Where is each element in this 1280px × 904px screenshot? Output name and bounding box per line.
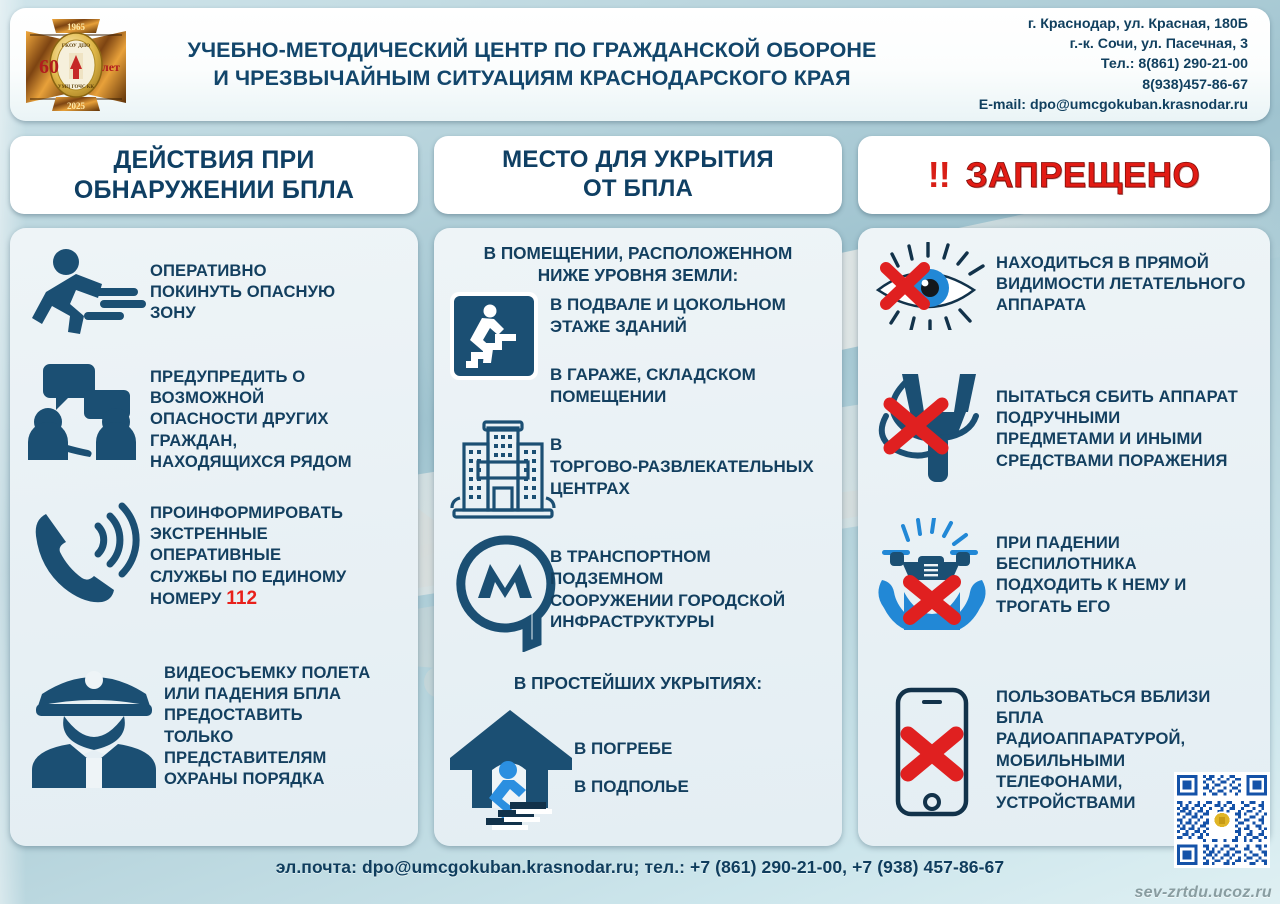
column-2-panel: В ПОМЕЩЕНИИ, РАСПОЛОЖЕННОМ НИЖЕ УРОВНЯ З…	[434, 228, 842, 846]
col2-item-2-line2: ПОМЕЩЕНИИ	[550, 386, 836, 408]
col2-title-line1: МЕСТО ДЛЯ УКРЫТИЯ	[502, 146, 774, 175]
col1-item-1-line2: ПОКИНУТЬ ОПАСНУЮ	[150, 281, 335, 302]
svg-text:1965: 1965	[67, 22, 86, 32]
running-person-icon	[24, 244, 150, 340]
col3-item-3-line3: ПОДХОДИТЬ К НЕМУ И	[996, 574, 1186, 595]
column-3-title-card: !! ЗАПРЕЩЕНО	[858, 136, 1270, 214]
col2-item-3-line2: ТОРГОВО-РАЗВЛЕКАТЕЛЬНЫХ	[550, 456, 840, 478]
metro-m-icon	[450, 532, 560, 652]
col2-item-2-text: В ГАРАЖЕ, СКЛАДСКОМ ПОМЕЩЕНИИ	[550, 364, 836, 408]
col2-item-1-line2: ЭТАЖЕ ЗДАНИЙ	[550, 316, 836, 338]
header-title: УЧЕБНО-МЕТОДИЧЕСКИЙ ЦЕНТР ПО ГРАЖДАНСКОЙ…	[130, 37, 940, 92]
col1-item-2-line2: ВОЗМОЖНОЙ	[150, 387, 352, 408]
stairs-down-sign-icon	[448, 290, 540, 382]
column-1-title-card: ДЕЙСТВИЯ ПРИ ОБНАРУЖЕНИИ БПЛА	[10, 136, 418, 214]
col3-item-4-line4: МОБИЛЬНЫМИ	[996, 750, 1210, 771]
col1-item-3: ПРОИНФОРМИРОВАТЬ ЭКСТРЕННЫЕ ОПЕРАТИВНЫЕ …	[24, 496, 406, 611]
col2-item-1-text: В ПОДВАЛЕ И ЦОКОЛЬНОМ ЭТАЖЕ ЗДАНИЙ	[550, 294, 836, 338]
col1-item-3-line1: ПРОИНФОРМИРОВАТЬ	[150, 502, 346, 523]
col1-item-3-line4: СЛУЖБЫ ПО ЕДИНОМУ	[150, 566, 346, 587]
col3-item-3-text: ПРИ ПАДЕНИИ БЕСПИЛОТНИКА ПОДХОДИТЬ К НЕМ…	[996, 518, 1186, 617]
source-watermark: sev-zrtdu.ucoz.ru	[1134, 884, 1272, 902]
telephone-ringing-icon	[24, 496, 150, 606]
header-contacts: г. Краснодар, ул. Красная, 180Б г.-к. Со…	[940, 14, 1270, 115]
slingshot-crossed-out-icon	[868, 364, 996, 484]
svg-text:2025: 2025	[67, 101, 86, 111]
col3-item-2: ПЫТАТЬСЯ СБИТЬ АППАРАТ ПОДРУЧНЫМИ ПРЕДМЕ…	[868, 364, 1268, 484]
col3-item-1-text: НАХОДИТЬСЯ В ПРЯМОЙ ВИДИМОСТИ ЛЕТАТЕЛЬНО…	[996, 242, 1246, 316]
col2-item-4-line2: ПОДЗЕМНОМ	[550, 568, 842, 590]
col3-item-3-line4: ТРОГАТЬ ЕГО	[996, 596, 1186, 617]
two-people-talking-icon	[24, 356, 150, 462]
col1-item-1-line3: ЗОНУ	[150, 302, 335, 323]
contact-address-krasnodar: г. Краснодар, ул. Красная, 180Б	[940, 14, 1248, 34]
col2-heading: В ПОМЕЩЕНИИ, РАСПОЛОЖЕННОМ НИЖЕ УРОВНЯ З…	[434, 242, 842, 287]
col1-item-1: ОПЕРАТИВНО ПОКИНУТЬ ОПАСНУЮ ЗОНУ	[24, 244, 406, 340]
col1-item-1-text: ОПЕРАТИВНО ПОКИНУТЬ ОПАСНУЮ ЗОНУ	[150, 244, 335, 324]
col1-item-2-line3: ОПАСНОСТИ ДРУГИХ	[150, 408, 352, 429]
col3-item-2-line2: ПОДРУЧНЫМИ	[996, 407, 1238, 428]
col3-item-1: НАХОДИТЬСЯ В ПРЯМОЙ ВИДИМОСТИ ЛЕТАТЕЛЬНО…	[868, 242, 1264, 330]
col1-item-4-line3: ПРЕДОСТАВИТЬ	[164, 704, 370, 725]
contact-email: E-mail: dpo@umcgokuban.krasnodar.ru	[940, 95, 1248, 115]
col1-item-2-line4: ГРАЖДАН,	[150, 430, 352, 451]
col3-item-4-line1: ПОЛЬЗОВАТЬСЯ ВБЛИЗИ	[996, 686, 1210, 707]
col3-title-prohibited: ЗАПРЕЩЕНО	[966, 158, 1201, 193]
double-exclamation-icon: !!	[928, 157, 950, 193]
col3-item-2-text: ПЫТАТЬСЯ СБИТЬ АППАРАТ ПОДРУЧНЫМИ ПРЕДМЕ…	[996, 364, 1238, 471]
qr-code[interactable]	[1174, 772, 1270, 868]
col2-item-3-text: В ТОРГОВО-РАЗВЛЕКАТЕЛЬНЫХ ЦЕНТРАХ	[550, 434, 840, 499]
col1-item-4-line4: ТОЛЬКО	[164, 726, 370, 747]
header-title-line2: И ЧРЕЗВЫЧАЙНЫМ СИТУАЦИЯМ КРАСНОДАРСКОГО …	[130, 65, 934, 93]
col2-item-4-line3: СООРУЖЕНИИ ГОРОДСКОЙ	[550, 590, 842, 612]
col3-item-1-line1: НАХОДИТЬСЯ В ПРЯМОЙ	[996, 252, 1246, 273]
col2-item-3-line3: ЦЕНТРАХ	[550, 478, 840, 500]
emergency-number-112: 112	[226, 588, 257, 609]
col3-item-3: ПРИ ПАДЕНИИ БЕСПИЛОТНИКА ПОДХОДИТЬ К НЕМ…	[868, 518, 1264, 636]
house-with-cellar-stairs-icon	[448, 704, 578, 832]
footer-contact-text: эл.почта: dpo@umcgokuban.krasnodar.ru; т…	[276, 857, 1004, 877]
col3-item-4-line3: РАДИОАППАРАТУРОЙ,	[996, 728, 1210, 749]
svg-text:ГКОУ ДПО: ГКОУ ДПО	[62, 43, 91, 49]
poster-root: 1965 2025 ГКОУ ДПО УМЦ ГОЧС КК 60 лет УЧ…	[0, 0, 1280, 904]
col1-item-4-line1: ВИДЕОСЪЕМКУ ПОЛЕТА	[164, 662, 370, 683]
contact-phone-2: 8(938)457-86-67	[940, 75, 1248, 95]
col1-title-line2: ОБНАРУЖЕНИИ БПЛА	[74, 175, 354, 205]
col1-item-2-text: ПРЕДУПРЕДИТЬ О ВОЗМОЖНОЙ ОПАСНОСТИ ДРУГИ…	[150, 356, 352, 472]
footer-bar: эл.почта: dpo@umcgokuban.krasnodar.ru; т…	[0, 857, 1280, 878]
eye-crossed-out-icon	[868, 242, 996, 330]
col3-item-4-line2: БПЛА	[996, 707, 1210, 728]
contact-address-sochi: г.-к. Сочи, ул. Пасечная, 3	[940, 34, 1248, 54]
police-officer-icon	[24, 658, 164, 788]
svg-text:60: 60	[39, 56, 59, 78]
col2-item-4-text: В ТРАНСПОРТНОМ ПОДЗЕМНОМ СООРУЖЕНИИ ГОРО…	[550, 546, 842, 633]
svg-text:лет: лет	[102, 60, 120, 74]
column-2-title-card: МЕСТО ДЛЯ УКРЫТИЯ ОТ БПЛА	[434, 136, 842, 214]
shopping-mall-building-icon	[448, 414, 558, 524]
col2-heading-line2: НИЖЕ УРОВНЯ ЗЕМЛИ:	[446, 264, 830, 286]
col1-item-3-text: ПРОИНФОРМИРОВАТЬ ЭКСТРЕННЫЕ ОПЕРАТИВНЫЕ …	[150, 496, 346, 611]
col1-item-4-line5: ПРЕДСТАВИТЕЛЯМ	[164, 747, 370, 768]
mobile-phone-crossed-out-icon	[868, 682, 996, 822]
contact-phone-1: Тел.: 8(861) 290-21-00	[940, 54, 1248, 74]
column-1-panel: ОПЕРАТИВНО ПОКИНУТЬ ОПАСНУЮ ЗОНУ	[10, 228, 418, 846]
organization-emblem-icon: 1965 2025 ГКОУ ДПО УМЦ ГОЧС КК 60 лет	[22, 15, 130, 115]
col3-item-3-line2: БЕСПИЛОТНИКА	[996, 553, 1186, 574]
col1-item-1-line1: ОПЕРАТИВНО	[150, 260, 335, 281]
column-titles: ДЕЙСТВИЯ ПРИ ОБНАРУЖЕНИИ БПЛА МЕСТО ДЛЯ …	[10, 136, 1270, 214]
col2-heading-line1: В ПОМЕЩЕНИИ, РАСПОЛОЖЕННОМ	[446, 242, 830, 264]
col3-item-2-line1: ПЫТАТЬСЯ СБИТЬ АППАРАТ	[996, 386, 1238, 407]
col1-item-2: ПРЕДУПРЕДИТЬ О ВОЗМОЖНОЙ ОПАСНОСТИ ДРУГИ…	[24, 356, 406, 472]
col2-item-4-line1: В ТРАНСПОРТНОМ	[550, 546, 842, 568]
col1-item-4: ВИДЕОСЪЕМКУ ПОЛЕТА ИЛИ ПАДЕНИЯ БПЛА ПРЕД…	[24, 658, 412, 789]
col1-item-3-line2: ЭКСТРЕННЫЕ	[150, 523, 346, 544]
col1-item-4-text: ВИДЕОСЪЕМКУ ПОЛЕТА ИЛИ ПАДЕНИЯ БПЛА ПРЕД…	[164, 658, 370, 789]
col3-item-2-line4: СРЕДСТВАМИ ПОРАЖЕНИЯ	[996, 450, 1238, 471]
col2-item-4-line4: ИНФРАСТРУКТУРЫ	[550, 611, 842, 633]
col1-item-4-line2: ИЛИ ПАДЕНИЯ БПЛА	[164, 683, 370, 704]
col3-item-1-line3: АППАРАТА	[996, 294, 1246, 315]
col1-item-4-line6: ОХРАНЫ ПОРЯДКА	[164, 768, 370, 789]
col1-item-3-line5: НОМЕРУ 112	[150, 587, 346, 611]
col1-item-3-line3: ОПЕРАТИВНЫЕ	[150, 544, 346, 565]
col3-item-2-line3: ПРЕДМЕТАМИ И ИНЫМИ	[996, 428, 1238, 449]
col2-subheading: В ПРОСТЕЙШИХ УКРЫТИЯХ:	[434, 672, 842, 694]
col1-item-2-line5: НАХОДЯЩИХСЯ РЯДОМ	[150, 451, 352, 472]
col1-title-line1: ДЕЙСТВИЯ ПРИ	[74, 145, 354, 175]
col2-item-2-line1: В ГАРАЖЕ, СКЛАДСКОМ	[550, 364, 836, 386]
column-3-panel: НАХОДИТЬСЯ В ПРЯМОЙ ВИДИМОСТИ ЛЕТАТЕЛЬНО…	[858, 228, 1270, 846]
header-bar: 1965 2025 ГКОУ ДПО УМЦ ГОЧС КК 60 лет УЧ…	[10, 8, 1270, 121]
svg-text:УМЦ ГОЧС КК: УМЦ ГОЧС КК	[58, 85, 95, 90]
col2-item-1-line1: В ПОДВАЛЕ И ЦОКОЛЬНОМ	[550, 294, 836, 316]
header-title-line1: УЧЕБНО-МЕТОДИЧЕСКИЙ ЦЕНТР ПО ГРАЖДАНСКОЙ…	[130, 37, 934, 65]
col2-shelter-1-text: В ПОГРЕБЕ	[574, 738, 824, 760]
col3-item-1-line2: ВИДИМОСТИ ЛЕТАТЕЛЬНОГО	[996, 273, 1246, 294]
col2-title-line2: ОТ БПЛА	[502, 175, 774, 204]
col2-item-3-line1: В	[550, 434, 840, 456]
col1-item-3-number-prefix: НОМЕРУ	[150, 589, 226, 608]
col3-item-3-line1: ПРИ ПАДЕНИИ	[996, 532, 1186, 553]
drone-in-hands-crossed-out-icon	[868, 518, 996, 636]
col1-item-2-line1: ПРЕДУПРЕДИТЬ О	[150, 366, 352, 387]
col2-shelter-2-text: В ПОДПОЛЬЕ	[574, 776, 824, 798]
